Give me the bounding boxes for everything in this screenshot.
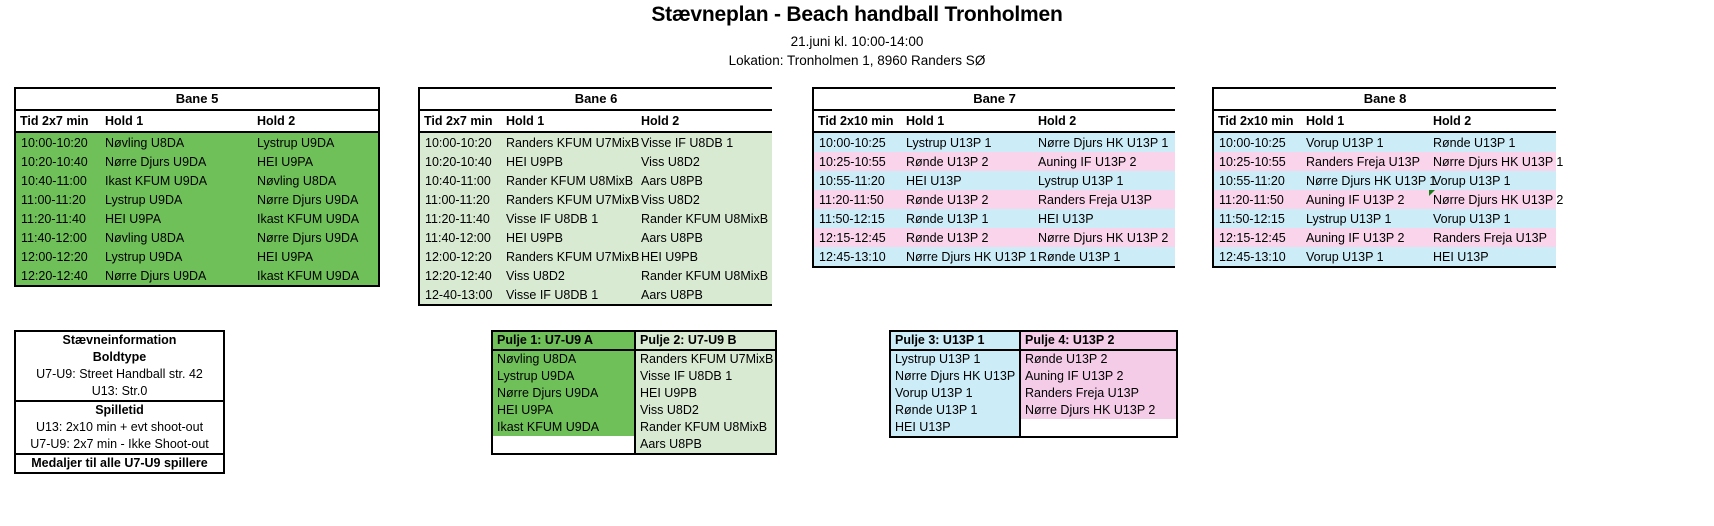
column-header-3: Hold 2 <box>1034 110 1175 132</box>
pool-team: Rønde U13P 2 <box>1021 351 1176 368</box>
match-row: 11:50-12:15Rønde U13P 1HEI U13P <box>814 209 1175 228</box>
team-away: Nørre Djurs U9DA <box>253 228 378 247</box>
team-home: Lystrup U9DA <box>101 190 253 209</box>
match-time: 11:00-11:20 <box>16 190 101 209</box>
pool-team: Ikast KFUM U9DA <box>493 419 634 436</box>
team-home: Vorup U13P 1 <box>1302 132 1429 152</box>
team-home: HEI U9PB <box>502 152 637 171</box>
team-away: Randers Freja U13P <box>1429 228 1556 247</box>
team-away: Rander KFUM U8MixB <box>637 209 772 228</box>
pool-team: HEI U13P <box>891 419 1019 436</box>
match-time: 12:20-12:40 <box>420 266 502 285</box>
team-home: Nøvling U8DA <box>101 228 253 247</box>
team-home: HEI U9PA <box>101 209 253 228</box>
column-header-2: Hold 1 <box>902 110 1034 132</box>
match-time: 10:00-10:25 <box>814 132 902 152</box>
team-away: Nørre Djurs HK U13P 1 <box>1034 132 1175 152</box>
pool-team: Lystrup U13P 1 <box>891 351 1019 368</box>
team-away: HEI U9PB <box>637 247 772 266</box>
team-home: Lystrup U9DA <box>101 247 253 266</box>
match-row: 10:55-11:20HEI U13PLystrup U13P 1 <box>814 171 1175 190</box>
match-time: 10:55-11:20 <box>1214 171 1302 190</box>
pool-title: Pulje 1: U7-U9 A <box>493 332 634 351</box>
court-table-3: Bane 7Tid 2x10 minHold 1Hold 210:00-10:2… <box>812 87 1175 268</box>
match-row: 10:00-10:20Randers KFUM U7MixBVisse IF U… <box>420 132 772 152</box>
team-away: Nørre Djurs HK U13P 1 <box>1429 152 1556 171</box>
team-away: Aars U8PB <box>637 171 772 190</box>
pool-title: Pulje 4: U13P 2 <box>1021 332 1176 351</box>
court-name: Bane 7 <box>814 89 1175 110</box>
team-home: Ikast KFUM U9DA <box>101 171 253 190</box>
info-title: Stævneinformation <box>16 332 223 349</box>
team-home: Nøvling U8DA <box>101 132 253 152</box>
event-location: Lokation: Tronholmen 1, 8960 Randers SØ <box>0 53 1714 68</box>
match-time: 12-40-13:00 <box>420 285 502 304</box>
pool-column: Pulje 3: U13P 1Lystrup U13P 1Nørre Djurs… <box>891 332 1019 436</box>
match-time: 10:25-10:55 <box>1214 152 1302 171</box>
team-away: Viss U8D2 <box>637 152 772 171</box>
team-home: Nørre Djurs U9DA <box>101 266 253 285</box>
info-playtime-title: Spilletid <box>16 400 223 419</box>
match-row: 12:15-12:45Rønde U13P 2Nørre Djurs HK U1… <box>814 228 1175 247</box>
team-home: Rander KFUM U8MixB <box>502 171 637 190</box>
match-time: 10:20-10:40 <box>420 152 502 171</box>
match-row: 11:20-11:40Visse IF U8DB 1Rander KFUM U8… <box>420 209 772 228</box>
pool-column: Pulje 2: U7-U9 BRanders KFUM U7MixBVisse… <box>634 332 775 453</box>
team-home: Rønde U13P 2 <box>902 228 1034 247</box>
column-header-1: Tid 2x7 min <box>420 110 502 132</box>
match-row: 10:25-10:55Rønde U13P 2Auning IF U13P 2 <box>814 152 1175 171</box>
team-home: Auning IF U13P 2 <box>1302 228 1429 247</box>
team-away: Ikast KFUM U9DA <box>253 266 378 285</box>
team-away: Rønde U13P 1 <box>1429 132 1556 152</box>
pool-team: Viss U8D2 <box>636 402 775 419</box>
match-time: 11:50-12:15 <box>1214 209 1302 228</box>
tournament-info-box: Stævneinformation Boldtype U7-U9: Street… <box>14 330 225 474</box>
team-away: Visse IF U8DB 1 <box>637 132 772 152</box>
pool-team: Nørre Djurs HK U13P 1 <box>891 368 1019 385</box>
court-name: Bane 6 <box>420 89 772 110</box>
pool-group-2: Pulje 3: U13P 1Lystrup U13P 1Nørre Djurs… <box>889 330 1178 438</box>
team-home: Rønde U13P 1 <box>902 209 1034 228</box>
match-time: 11:20-11:50 <box>1214 190 1302 209</box>
schedule-page: Stævneplan - Beach handball Tronholmen 2… <box>0 0 1714 526</box>
team-home: Randers KFUM U7MixB <box>502 247 637 266</box>
match-time: 10:00-10:20 <box>16 132 101 152</box>
pool-empty-slot <box>1021 419 1176 436</box>
match-row: 10:25-10:55Randers Freja U13PNørre Djurs… <box>1214 152 1556 171</box>
team-away: HEI U13P <box>1034 209 1175 228</box>
team-home: Randers Freja U13P <box>1302 152 1429 171</box>
match-time: 10:25-10:55 <box>814 152 902 171</box>
match-row: 10:00-10:20Nøvling U8DALystrup U9DA <box>16 132 378 152</box>
team-away: Nørre Djurs U9DA <box>253 190 378 209</box>
pool-column: Pulje 1: U7-U9 ANøvling U8DALystrup U9DA… <box>493 332 634 453</box>
match-time: 11:40-12:00 <box>420 228 502 247</box>
match-time: 12:20-12:40 <box>16 266 101 285</box>
match-row: 11:20-11:50Auning IF U13P 2Nørre Djurs H… <box>1214 190 1556 209</box>
court-name: Bane 5 <box>16 89 378 110</box>
court-table-2: Bane 6Tid 2x7 minHold 1Hold 210:00-10:20… <box>418 87 772 306</box>
team-home: Viss U8D2 <box>502 266 637 285</box>
team-home: Nørre Djurs HK U13P 1 <box>902 247 1034 266</box>
column-header-1: Tid 2x7 min <box>16 110 101 132</box>
match-row: 10:40-11:00Rander KFUM U8MixBAars U8PB <box>420 171 772 190</box>
match-row: 12:45-13:10Nørre Djurs HK U13P 1Rønde U1… <box>814 247 1175 266</box>
match-time: 10:00-10:25 <box>1214 132 1302 152</box>
team-home: Rønde U13P 2 <box>902 190 1034 209</box>
team-home: Randers KFUM U7MixB <box>502 190 637 209</box>
match-row: 10:00-10:25Vorup U13P 1Rønde U13P 1 <box>1214 132 1556 152</box>
team-away: Auning IF U13P 2 <box>1034 152 1175 171</box>
team-away: Viss U8D2 <box>637 190 772 209</box>
pool-team: HEI U9PB <box>636 385 775 402</box>
pool-team: Nørre Djurs U9DA <box>493 385 634 402</box>
match-time: 12:45-13:10 <box>1214 247 1302 266</box>
pool-team: Rønde U13P 1 <box>891 402 1019 419</box>
column-header-1: Tid 2x10 min <box>1214 110 1302 132</box>
match-row: 12:20-12:40Viss U8D2Rander KFUM U8MixB <box>420 266 772 285</box>
info-footer: Medaljer til alle U7-U9 spillere <box>16 453 223 472</box>
team-away: Nørre Djurs HK U13P 2 <box>1034 228 1175 247</box>
team-home: Vorup U13P 1 <box>1302 247 1429 266</box>
pool-team: HEI U9PA <box>493 402 634 419</box>
match-row: 10:20-10:40HEI U9PBViss U8D2 <box>420 152 772 171</box>
pool-team: Vorup U13P 1 <box>891 385 1019 402</box>
column-header-2: Hold 1 <box>502 110 637 132</box>
info-balltype-title: Boldtype <box>16 349 223 366</box>
match-row: 11:20-11:40HEI U9PAIkast KFUM U9DA <box>16 209 378 228</box>
match-time: 12:00-12:20 <box>420 247 502 266</box>
team-away: Lystrup U13P 1 <box>1034 171 1175 190</box>
match-row: 12:15-12:45Auning IF U13P 2Randers Freja… <box>1214 228 1556 247</box>
team-away: Randers Freja U13P <box>1034 190 1175 209</box>
match-time: 12:15-12:45 <box>814 228 902 247</box>
court-table-4: Bane 8Tid 2x10 minHold 1Hold 210:00-10:2… <box>1212 87 1556 268</box>
match-row: 10:00-10:25Lystrup U13P 1Nørre Djurs HK … <box>814 132 1175 152</box>
team-home: Lystrup U13P 1 <box>902 132 1034 152</box>
court-table-1: Bane 5Tid 2x7 minHold 1Hold 210:00-10:20… <box>14 87 380 287</box>
match-time: 10:55-11:20 <box>814 171 902 190</box>
pool-team: Rander KFUM U8MixB <box>636 419 775 436</box>
team-away: Vorup U13P 1 <box>1429 209 1556 228</box>
pool-team: Nøvling U8DA <box>493 351 634 368</box>
pool-team: Visse IF U8DB 1 <box>636 368 775 385</box>
team-away: Aars U8PB <box>637 285 772 304</box>
match-row: 10:40-11:00Ikast KFUM U9DANøvling U8DA <box>16 171 378 190</box>
team-home: Visse IF U8DB 1 <box>502 285 637 304</box>
column-header-3: Hold 2 <box>253 110 378 132</box>
match-time: 11:00-11:20 <box>420 190 502 209</box>
page-title: Stævneplan - Beach handball Tronholmen <box>0 3 1714 27</box>
team-away: HEI U13P <box>1429 247 1556 266</box>
pool-team: Lystrup U9DA <box>493 368 634 385</box>
pool-team: Nørre Djurs HK U13P 2 <box>1021 402 1176 419</box>
info-playtime-line-1: U13: 2x10 min + evt shoot-out <box>16 419 223 436</box>
match-row: 10:55-11:20Nørre Djurs HK U13P 1Vorup U1… <box>1214 171 1556 190</box>
team-away: Rønde U13P 1 <box>1034 247 1175 266</box>
match-row: 11:40-12:00HEI U9PBAars U8PB <box>420 228 772 247</box>
pool-team: Randers KFUM U7MixB <box>636 351 775 368</box>
team-home: Rønde U13P 2 <box>902 152 1034 171</box>
info-playtime-line-2: U7-U9: 2x7 min - Ikke Shoot-out <box>16 436 223 453</box>
pool-empty-slot <box>493 436 634 453</box>
team-away: HEI U9PA <box>253 247 378 266</box>
column-header-1: Tid 2x10 min <box>814 110 902 132</box>
match-row: 12:00-12:20Randers KFUM U7MixBHEI U9PB <box>420 247 772 266</box>
court-name: Bane 8 <box>1214 89 1556 110</box>
info-balltype-line-2: U13: Str.0 <box>16 383 223 400</box>
team-home: Visse IF U8DB 1 <box>502 209 637 228</box>
team-home: Randers KFUM U7MixB <box>502 132 637 152</box>
team-away: Vorup U13P 1 <box>1429 171 1556 190</box>
match-row: 11:40-12:00Nøvling U8DANørre Djurs U9DA <box>16 228 378 247</box>
match-time: 12:00-12:20 <box>16 247 101 266</box>
pool-title: Pulje 3: U13P 1 <box>891 332 1019 351</box>
pool-team: Randers Freja U13P <box>1021 385 1176 402</box>
match-time: 10:40-11:00 <box>420 171 502 190</box>
pool-team: Auning IF U13P 2 <box>1021 368 1176 385</box>
event-datetime: 21.juni kl. 10:00-14:00 <box>0 34 1714 49</box>
team-home: Nørre Djurs U9DA <box>101 152 253 171</box>
team-home: HEI U13P <box>902 171 1034 190</box>
match-time: 10:00-10:20 <box>420 132 502 152</box>
team-home: Auning IF U13P 2 <box>1302 190 1429 209</box>
match-row: 10:20-10:40Nørre Djurs U9DAHEI U9PA <box>16 152 378 171</box>
match-row: 12-40-13:00Visse IF U8DB 1Aars U8PB <box>420 285 772 304</box>
team-away: Nøvling U8DA <box>253 171 378 190</box>
column-header-2: Hold 1 <box>101 110 253 132</box>
team-away: HEI U9PA <box>253 152 378 171</box>
match-row: 12:45-13:10Vorup U13P 1HEI U13P <box>1214 247 1556 266</box>
team-away: Lystrup U9DA <box>253 132 378 152</box>
match-time: 10:40-11:00 <box>16 171 101 190</box>
match-time: 11:50-12:15 <box>814 209 902 228</box>
team-away: Rander KFUM U8MixB <box>637 266 772 285</box>
column-header-2: Hold 1 <box>1302 110 1429 132</box>
team-home: HEI U9PB <box>502 228 637 247</box>
match-row: 11:00-11:20Randers KFUM U7MixBViss U8D2 <box>420 190 772 209</box>
team-away: Aars U8PB <box>637 228 772 247</box>
match-row: 12:20-12:40Nørre Djurs U9DAIkast KFUM U9… <box>16 266 378 285</box>
info-balltype-line-1: U7-U9: Street Handball str. 42 <box>16 366 223 383</box>
pool-column: Pulje 4: U13P 2Rønde U13P 2Auning IF U13… <box>1019 332 1176 436</box>
match-row: 12:00-12:20Lystrup U9DAHEI U9PA <box>16 247 378 266</box>
team-away-with-comment-marker: Nørre Djurs HK U13P 2 <box>1429 190 1556 209</box>
column-header-3: Hold 2 <box>1429 110 1556 132</box>
match-time: 11:20-11:50 <box>814 190 902 209</box>
team-away: Ikast KFUM U9DA <box>253 209 378 228</box>
match-time: 12:45-13:10 <box>814 247 902 266</box>
pool-group-1: Pulje 1: U7-U9 ANøvling U8DALystrup U9DA… <box>491 330 777 455</box>
pool-title: Pulje 2: U7-U9 B <box>636 332 775 351</box>
match-time: 11:20-11:40 <box>420 209 502 228</box>
match-time: 11:40-12:00 <box>16 228 101 247</box>
match-time: 12:15-12:45 <box>1214 228 1302 247</box>
match-row: 11:20-11:50Rønde U13P 2Randers Freja U13… <box>814 190 1175 209</box>
match-time: 11:20-11:40 <box>16 209 101 228</box>
column-header-3: Hold 2 <box>637 110 772 132</box>
match-row: 11:00-11:20Lystrup U9DANørre Djurs U9DA <box>16 190 378 209</box>
match-time: 10:20-10:40 <box>16 152 101 171</box>
match-row: 11:50-12:15Lystrup U13P 1Vorup U13P 1 <box>1214 209 1556 228</box>
pool-team: Aars U8PB <box>636 436 775 453</box>
team-home: Lystrup U13P 1 <box>1302 209 1429 228</box>
team-home: Nørre Djurs HK U13P 1 <box>1302 171 1429 190</box>
